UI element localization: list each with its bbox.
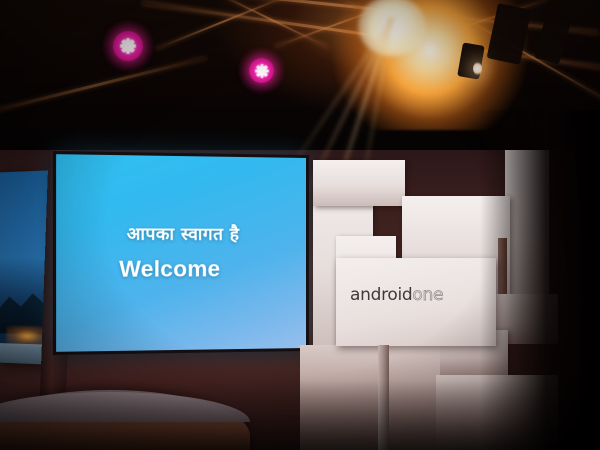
- pink-led-left: [113, 31, 143, 61]
- projection-screen: आपका स्वागत है Welcome: [56, 154, 306, 352]
- led-star-pattern: [255, 64, 269, 78]
- backdrop-panel-top-left: [313, 160, 405, 206]
- small-white-light: [473, 62, 482, 75]
- bottom-dark-area: [0, 380, 600, 450]
- android-one-logo-panel: androidone: [336, 258, 496, 346]
- pink-led-right: [249, 58, 274, 83]
- logo-word-one: one: [412, 285, 443, 305]
- screen-bezel: [53, 151, 309, 355]
- logo-word-android: android: [350, 285, 412, 305]
- android-one-logo: androidone: [350, 285, 443, 305]
- event-stage-photo: आपका स्वागत है Welcome androidone: [0, 0, 600, 450]
